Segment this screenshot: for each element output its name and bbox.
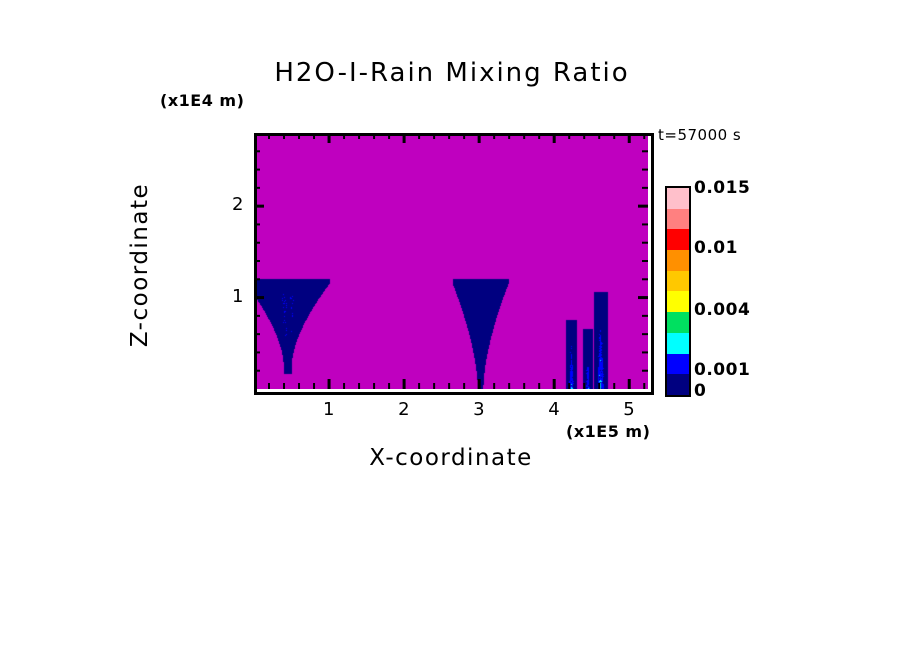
y-tick-label-1: 1 <box>232 286 243 307</box>
colorbar-band-7 <box>667 229 689 250</box>
colorbar-band-3 <box>667 312 689 333</box>
y-axis-unit-label: (x1E4 m) <box>160 91 244 110</box>
colorbar-label-2: 0.004 <box>694 300 750 320</box>
colorbar-band-4 <box>667 291 689 312</box>
y-tick-label-2: 2 <box>232 194 243 215</box>
colorbar-label-1: 0.01 <box>694 238 738 258</box>
x-tick-label-2: 2 <box>398 399 409 420</box>
colorbar-band-5 <box>667 271 689 292</box>
colorbar-band-8 <box>667 209 689 230</box>
colorbar-band-6 <box>667 250 689 271</box>
colorbar-label-3: 0.001 <box>694 360 750 380</box>
colorbar-label-0: 0.015 <box>694 178 750 198</box>
y-axis-title: Z-coordinate <box>127 65 153 465</box>
colorbar-band-2 <box>667 333 689 354</box>
x-axis-title: X-coordinate <box>254 445 648 471</box>
time-annotation: t=57000 s <box>658 126 741 144</box>
x-tick-label-4: 4 <box>548 399 559 420</box>
colorbar-band-9 <box>667 188 689 209</box>
x-axis-unit-label: (x1E5 m) <box>566 422 650 441</box>
x-tick-label-5: 5 <box>623 399 634 420</box>
x-tick-label-1: 1 <box>323 399 334 420</box>
figure-canvas: H2O-I-Rain Mixing Ratio (x1E4 m) t=57000… <box>0 0 904 654</box>
plot-frame <box>254 133 654 395</box>
x-tick-label-3: 3 <box>473 399 484 420</box>
colorbar <box>665 186 691 397</box>
colorbar-band-1 <box>667 354 689 375</box>
colorbar-label-4: 0 <box>694 381 706 401</box>
colorbar-band-0 <box>667 374 689 395</box>
